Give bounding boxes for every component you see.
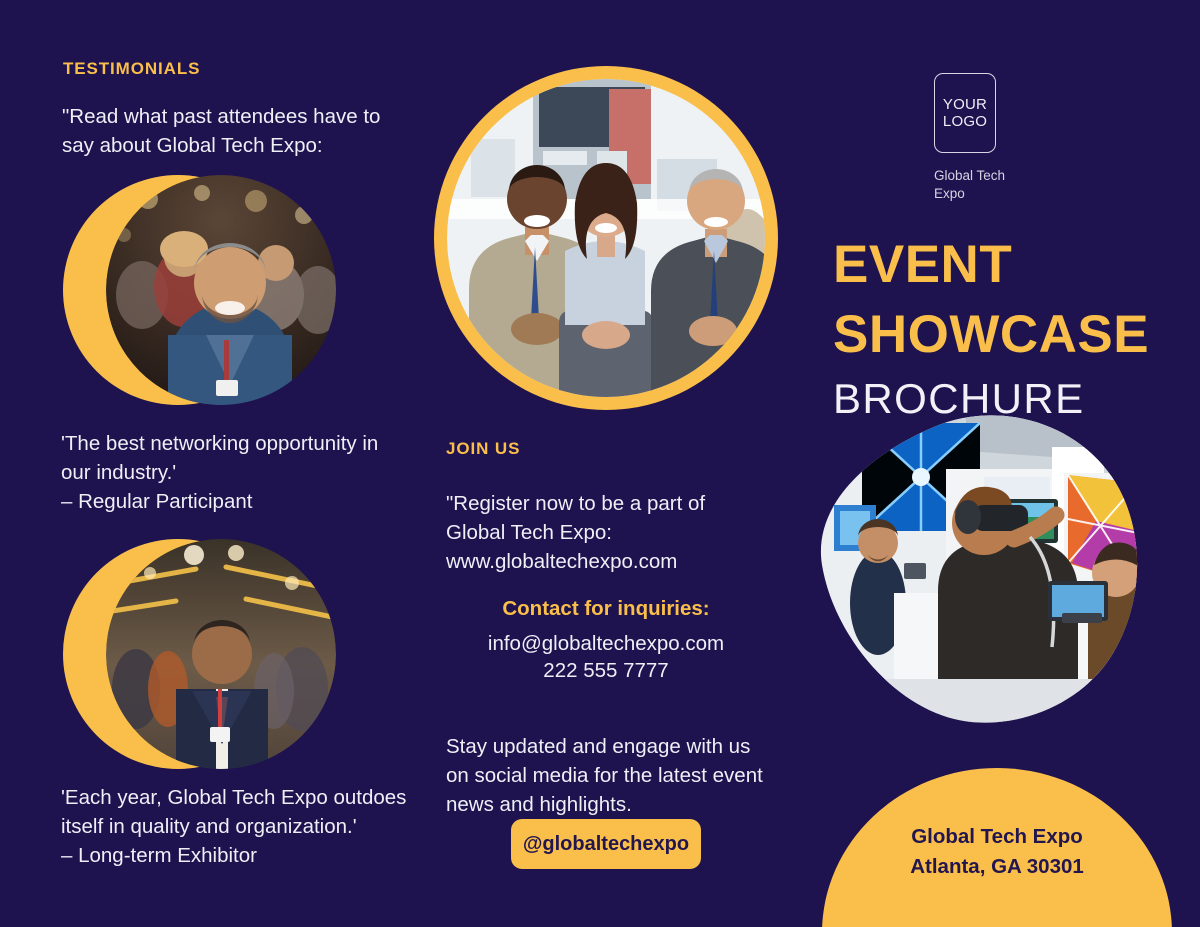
social-handle-button[interactable]: @globaltechexpo [511, 819, 701, 869]
attendee-audience-photo [106, 175, 336, 405]
address-block: Global Tech Expo Atlanta, GA 30301 [822, 822, 1172, 881]
logo-caption: Global Tech Expo [934, 167, 1029, 203]
logo-line-one: YOUR [943, 96, 987, 113]
contact-details: info@globaltechexpo.com 222 555 7777 [446, 631, 766, 684]
testimonials-kicker: TESTIMONIALS [63, 59, 200, 79]
expo-vr-photo [816, 413, 1138, 731]
title-block: EVENT SHOWCASE BROCHURE [833, 230, 1149, 425]
logo-block: YOUR LOGO Global Tech Expo [934, 73, 1029, 203]
social-media-text: Stay updated and engage with us on socia… [446, 732, 766, 819]
testimonials-intro-text: "Read what past attendees have to say ab… [62, 102, 392, 160]
brochure-page: TESTIMONIALS "Read what past attendees h… [0, 0, 1200, 927]
hero-photo [447, 79, 765, 397]
logo-placeholder-box: YOUR LOGO [934, 73, 996, 153]
address-location: Atlanta, GA 30301 [822, 852, 1172, 882]
testimonial-quote-one: 'The best networking opportunity in our … [61, 429, 406, 516]
hero-photo-ring [434, 66, 778, 410]
testimonial-quote-two: 'Each year, Global Tech Expo outdoes its… [61, 783, 411, 870]
logo-line-two: LOGO [943, 113, 987, 130]
register-text: "Register now to be a part of Global Tec… [446, 489, 766, 576]
exhibitor-floor-photo [106, 539, 336, 769]
join-us-kicker: JOIN US [446, 439, 520, 459]
contact-heading: Contact for inquiries: [446, 597, 766, 621]
title-line-two: SHOWCASE [833, 300, 1149, 370]
address-name: Global Tech Expo [822, 822, 1172, 852]
title-line-one: EVENT [833, 230, 1149, 300]
contact-phone[interactable]: 222 555 7777 [446, 658, 766, 685]
contact-email[interactable]: info@globaltechexpo.com [446, 631, 766, 658]
